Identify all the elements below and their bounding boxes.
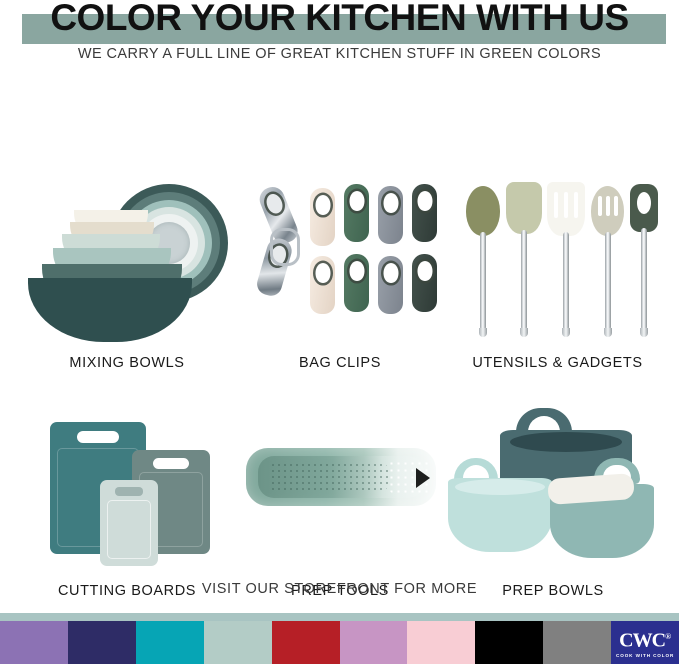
color-swatch-row: CWC® COOK WITH COLOR [0, 621, 679, 664]
utensils-gadgets-icon [450, 172, 665, 342]
product-card-mixing-bowls[interactable]: MIXING BOWLS [22, 172, 232, 377]
swatch-orchid [340, 621, 408, 664]
logo-wordmark: CWC® [619, 627, 671, 651]
swatch-teal [136, 621, 204, 664]
header: COLOR YOUR KITCHEN WITH US WE CARRY A FU… [0, 0, 679, 72]
storefront-cta[interactable]: VISIT OUR STOREFRONT FOR MORE [0, 581, 679, 597]
page-subtitle: WE CARRY A FULL LINE OF GREAT KITCHEN ST… [0, 44, 679, 64]
swatch-navy [68, 621, 136, 664]
product-card-prep-bowls[interactable]: PREP BOWLS [442, 400, 664, 605]
logo-tagline: COOK WITH COLOR [616, 653, 674, 658]
footer-accent-strip [0, 613, 679, 621]
swatch-purple [0, 621, 68, 664]
poster-root: COLOR YOUR KITCHEN WITH US WE CARRY A FU… [0, 0, 679, 664]
page-title: COLOR YOUR KITCHEN WITH US [0, 0, 679, 40]
product-label: MIXING BOWLS [22, 355, 232, 371]
product-card-utensils-gadgets[interactable]: UTENSILS & GADGETS [450, 172, 665, 377]
product-card-prep-tools[interactable]: PREP TOOLS [240, 400, 440, 605]
swatch-gray [543, 621, 611, 664]
logo-letters: CWC [619, 630, 665, 652]
swatch-black [475, 621, 543, 664]
swatch-sage [204, 621, 272, 664]
swatch-red [272, 621, 340, 664]
brand-logo[interactable]: CWC® COOK WITH COLOR [611, 621, 679, 664]
prep-bowls-icon [442, 400, 664, 570]
registered-mark-icon: ® [665, 632, 671, 641]
bag-clips-icon [240, 172, 440, 342]
product-label: BAG CLIPS [240, 355, 440, 371]
product-card-cutting-boards[interactable]: CUTTING BOARDS [22, 400, 232, 605]
product-card-bag-clips[interactable]: BAG CLIPS [240, 172, 440, 377]
swatch-pink [407, 621, 475, 664]
product-label: UTENSILS & GADGETS [450, 355, 665, 371]
prep-tools-icon [240, 400, 440, 570]
cutting-boards-icon [22, 400, 232, 570]
mixing-bowls-icon [22, 172, 232, 342]
